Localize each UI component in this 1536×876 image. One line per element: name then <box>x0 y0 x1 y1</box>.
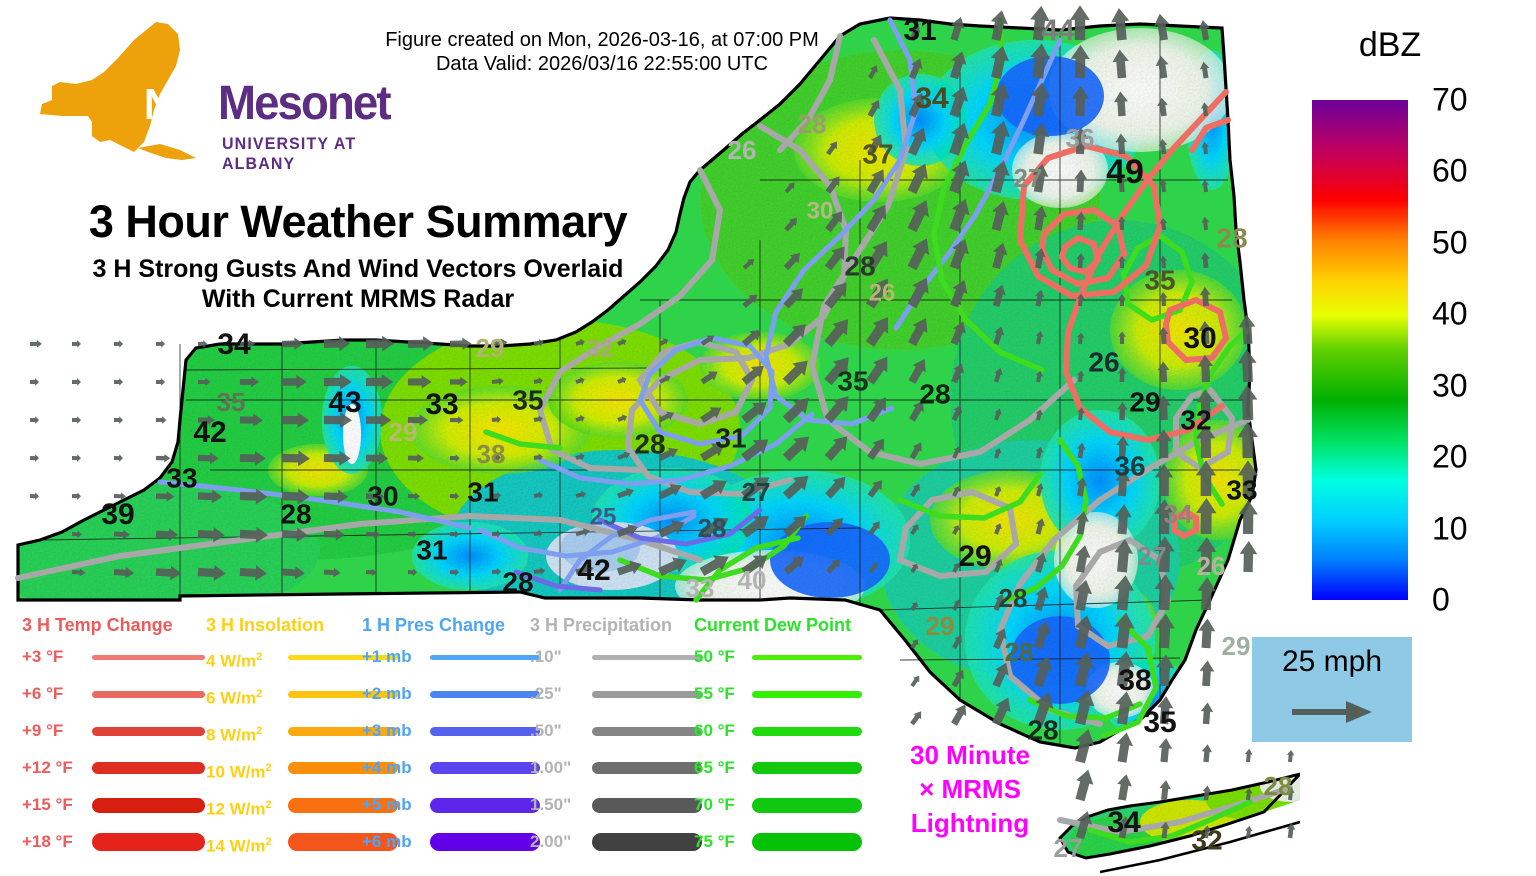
dbz-colorbar: dBZ 706050403020100 <box>1300 10 1536 620</box>
gust-value-label: 33 <box>166 462 197 493</box>
wind-vector-arrow-icon <box>1114 731 1135 763</box>
legend-row: +12 °F <box>22 756 205 789</box>
legend-column-4: Current Dew Point50 °F55 °F60 °F65 °F70 … <box>694 615 851 636</box>
legend-row-label: .10" <box>530 645 562 669</box>
wind-vector-arrow-icon <box>30 416 39 424</box>
legend-row: +2 mb <box>362 682 540 715</box>
legend-row-label: 6 W/m2 <box>206 682 262 711</box>
legend-row-swatch <box>752 762 862 774</box>
gust-value-label: 31 <box>903 14 936 47</box>
wind-vector-arrow-icon <box>1157 737 1173 762</box>
gust-value-label: 31 <box>467 476 498 507</box>
gust-value-label: 29 <box>476 333 505 363</box>
wind-vector-arrow-icon <box>114 378 123 386</box>
legend-row-label: 4 W/m2 <box>206 645 262 674</box>
legend-row: 1.00" <box>530 756 702 789</box>
wind-vector-arrow-icon <box>1286 750 1295 763</box>
legend-column-2: 1 H Pres Change+1 mb+2 mb+3 mb+4 mb+5 mb… <box>362 615 505 636</box>
colorbar-title: dBZ <box>1320 26 1460 65</box>
gust-value-label: 44 <box>1041 14 1075 47</box>
legend-row: 75 °F <box>694 830 862 863</box>
wind-vector-arrow-icon <box>156 340 165 348</box>
lightning-x-icon: × <box>919 774 934 804</box>
legend-row-label: 75 °F <box>694 830 735 854</box>
page-title: 3 Hour Weather Summary <box>18 196 698 248</box>
colorbar-tick-0: 0 <box>1432 582 1450 619</box>
legend-row-swatch <box>752 655 862 660</box>
gust-value-label: 35 <box>1144 264 1175 295</box>
legend-row-swatch <box>430 798 540 813</box>
legend-row-swatch <box>752 727 862 736</box>
gust-value-label: 28 <box>1005 637 1034 667</box>
colorbar-ticks: 706050403020100 <box>1418 100 1518 600</box>
wind-vector-arrow-icon <box>1244 748 1253 762</box>
legend-column-title: 3 H Insolation <box>206 615 324 636</box>
gust-value-label: 33 <box>686 573 715 603</box>
legend-row-swatch <box>92 762 205 774</box>
legend-row-swatch <box>430 691 540 698</box>
gust-value-label: 26 <box>1088 346 1119 377</box>
wind-vector-arrow-icon <box>1201 744 1213 763</box>
contour-legend: 3 H Temp Change+3 °F+6 °F+9 °F+12 °F+15 … <box>0 615 880 875</box>
wind-vector-arrow-icon <box>908 709 925 727</box>
lightning-legend-marker-row: × MRMS <box>880 772 1060 806</box>
legend-row: 2.00" <box>530 830 702 863</box>
legend-row-label: 8 W/m2 <box>206 719 262 748</box>
legend-row: +6 mb <box>362 830 540 863</box>
legend-row-swatch <box>752 691 862 698</box>
gust-value-label: 28 <box>502 566 533 597</box>
legend-row: .50" <box>530 719 702 752</box>
legend-row-label: 70 °F <box>694 793 735 817</box>
gust-value-label: 35 <box>217 387 246 417</box>
gust-value-label: 31 <box>416 534 447 565</box>
gust-value-label: 30 <box>1183 322 1216 355</box>
gust-value-label: 28 <box>280 498 311 529</box>
wind-vector-arrow-icon <box>72 340 81 348</box>
lightning-legend-line1: 30 Minute <box>880 738 1060 772</box>
legend-row-label: 50 °F <box>694 645 735 669</box>
wind-vector-arrow-icon <box>30 454 39 462</box>
gust-value-label: 27 <box>1138 541 1167 571</box>
gust-value-label: 33 <box>425 388 458 421</box>
colorbar-tick-40: 40 <box>1432 296 1468 333</box>
legend-row-label: +9 °F <box>22 719 63 743</box>
wind-vector-arrow-icon <box>72 454 81 462</box>
wind-vector-arrow-icon <box>30 378 39 386</box>
legend-row-swatch <box>592 655 702 660</box>
legend-column-title: 3 H Precipitation <box>530 615 672 636</box>
wind-reference-box: 25 mph <box>1252 637 1412 742</box>
gust-value-label: 28 <box>698 513 727 543</box>
legend-row: +4 mb <box>362 756 540 789</box>
gust-value-label: 28 <box>634 428 665 459</box>
legend-row: 55 °F <box>694 682 862 715</box>
legend-row-label: +1 mb <box>362 645 412 669</box>
gust-value-label: 32 <box>1180 404 1211 435</box>
gust-value-label: 38 <box>477 439 506 469</box>
legend-row-label: +12 °F <box>22 756 73 780</box>
legend-row-label: +3 °F <box>22 645 63 669</box>
legend-row-label: 60 °F <box>694 719 735 743</box>
logo-mesonet-text: Mesonet <box>218 76 390 131</box>
wind-vector-arrow-icon <box>156 454 171 463</box>
gust-value-label: 38 <box>1118 664 1151 697</box>
gust-value-label: 49 <box>1106 153 1144 191</box>
legend-row-swatch <box>752 833 862 851</box>
legend-row-label: 2.00" <box>530 830 571 854</box>
legend-row-label: 12 W/m2 <box>206 793 272 822</box>
legend-row: 50 °F <box>694 645 862 678</box>
legend-row-label: 65 °F <box>694 756 735 780</box>
legend-row-swatch <box>92 691 205 698</box>
subtitle-line-1: 3 H Strong Gusts And Wind Vectors Overla… <box>18 255 698 284</box>
gust-value-label: 37 <box>862 138 893 169</box>
gust-value-label: 26 <box>1197 551 1226 581</box>
logo-nys-text: NYS <box>144 80 224 130</box>
legend-row: 1.50" <box>530 793 702 826</box>
legend-row-swatch <box>752 798 862 813</box>
wind-vector-arrow-icon <box>30 492 39 500</box>
legend-row-label: +6 mb <box>362 830 412 854</box>
legend-row-label: +5 mb <box>362 793 412 817</box>
legend-row: +18 °F <box>22 830 205 863</box>
gust-value-label: 35 <box>1143 706 1176 739</box>
wind-vector-arrow-icon <box>30 340 42 348</box>
gust-value-label: 28 <box>1216 222 1247 253</box>
gust-value-label: 29 <box>389 417 418 447</box>
wind-vector-arrow-icon <box>1158 780 1171 801</box>
legend-row: +6 °F <box>22 682 205 715</box>
gust-value-label: 34 <box>217 328 251 361</box>
wind-vector-arrow-icon <box>1239 541 1257 572</box>
legend-row: +5 mb <box>362 793 540 826</box>
wind-vector-arrow-icon <box>72 378 81 386</box>
legend-row-label: +2 mb <box>362 682 412 706</box>
gust-value-label: 42 <box>193 416 226 449</box>
lightning-legend: 30 Minute × MRMS Lightning <box>880 738 1060 840</box>
lightning-legend-line3: Lightning <box>880 806 1060 840</box>
wind-vector-arrow-icon <box>1200 702 1214 724</box>
gust-value-label: 32 <box>587 335 614 362</box>
legend-row-swatch <box>92 727 205 736</box>
gust-value-label: 27 <box>742 477 771 507</box>
legend-row-label: +15 °F <box>22 793 73 817</box>
legend-row-label: +4 mb <box>362 756 412 780</box>
legend-row-label: .50" <box>530 719 562 743</box>
legend-row-swatch <box>92 655 205 660</box>
wind-reference-arrow-icon <box>1290 699 1374 725</box>
legend-row: .25" <box>530 682 702 715</box>
gust-value-label: 29 <box>958 540 991 573</box>
wind-vector-arrow-icon <box>114 454 123 462</box>
gust-value-label: 28 <box>999 583 1028 613</box>
gust-value-label: 36 <box>1066 123 1095 153</box>
gust-value-label: 32 <box>1191 824 1222 855</box>
wind-vector-arrow-icon <box>156 378 165 386</box>
wind-vector-arrow-icon <box>72 492 81 500</box>
wind-vector-arrow-icon <box>114 340 123 348</box>
gust-value-label: 26 <box>869 279 896 306</box>
wind-vector-arrow-icon <box>1115 773 1134 801</box>
gust-value-label: 42 <box>577 554 610 587</box>
legend-row-swatch <box>592 798 702 813</box>
colorbar-tick-10: 10 <box>1432 510 1468 547</box>
gust-value-label: 35 <box>837 365 868 396</box>
gust-value-label: 33 <box>1226 474 1257 505</box>
wind-vector-arrow-icon <box>909 674 922 689</box>
gust-value-label: 26 <box>728 135 757 165</box>
gust-value-label: 30 <box>807 197 834 224</box>
legend-row-swatch <box>92 798 205 813</box>
legend-row-swatch <box>592 727 702 736</box>
legend-row-label: 55 °F <box>694 682 735 706</box>
gust-value-label: 29 <box>926 611 955 641</box>
gust-value-label: 27 <box>1014 163 1043 193</box>
legend-row-swatch <box>592 833 702 851</box>
legend-column-title: 3 H Temp Change <box>22 615 173 636</box>
gust-value-label: 28 <box>919 378 950 409</box>
data-valid-timestamp: Data Valid: 2026/03/16 22:55:00 UTC <box>352 52 852 76</box>
legend-row: 70 °F <box>694 793 862 826</box>
legend-row-swatch <box>430 762 540 774</box>
colorbar-tick-30: 30 <box>1432 367 1468 404</box>
legend-row-label: 14 W/m2 <box>206 830 272 859</box>
colorbar-tick-20: 20 <box>1432 439 1468 476</box>
legend-column-1: 3 H Insolation4 W/m26 W/m28 W/m210 W/m21… <box>206 615 324 636</box>
gust-value-label: 28 <box>844 250 875 281</box>
gust-value-label: 28 <box>1264 771 1293 801</box>
wind-vector-arrow-icon <box>72 416 81 424</box>
gust-value-label: 29 <box>1129 386 1160 417</box>
wind-reference-label: 25 mph <box>1252 645 1412 679</box>
colorbar-gradient <box>1312 100 1408 600</box>
gust-value-label: 34 <box>915 82 949 115</box>
gust-value-label: 39 <box>101 498 134 531</box>
lightning-legend-line2: MRMS <box>941 774 1020 804</box>
legend-row: .10" <box>530 645 702 678</box>
gust-value-label: 40 <box>738 565 767 595</box>
legend-row-label: 1.00" <box>530 756 571 780</box>
gust-value-label: 28 <box>798 109 827 139</box>
legend-row-swatch <box>592 762 702 774</box>
colorbar-tick-70: 70 <box>1432 82 1468 119</box>
gust-value-label: 31 <box>715 422 746 453</box>
gust-value-label: 43 <box>328 386 361 419</box>
gust-value-label: 29 <box>1222 631 1251 661</box>
colorbar-tick-60: 60 <box>1432 153 1468 190</box>
colorbar-tick-50: 50 <box>1432 224 1468 261</box>
logo-university-text: UNIVERSITY AT ALBANY <box>222 134 371 174</box>
nys-mesonet-logo: NYS Mesonet UNIVERSITY AT ALBANY <box>30 18 380 163</box>
legend-row: +15 °F <box>22 793 205 826</box>
legend-row-label: +6 °F <box>22 682 63 706</box>
wind-vector-arrow-icon <box>1071 767 1096 802</box>
legend-row-label: 10 W/m2 <box>206 756 272 785</box>
legend-row-label: +3 mb <box>362 719 412 743</box>
wind-vector-arrow-icon <box>156 416 167 424</box>
gust-value-label: 36 <box>1114 450 1145 481</box>
legend-row-label: +18 °F <box>22 830 73 854</box>
legend-row-swatch <box>430 655 540 660</box>
gust-value-label: 34 <box>1107 806 1141 839</box>
gust-value-label: 25 <box>590 503 617 530</box>
legend-row-swatch <box>592 691 702 698</box>
legend-column-title: 1 H Pres Change <box>362 615 505 636</box>
legend-row: 60 °F <box>694 719 862 752</box>
legend-row-label: 1.50" <box>530 793 571 817</box>
figure-created-timestamp: Figure created on Mon, 2026-03-16, at 07… <box>352 28 852 52</box>
gust-value-label: 34 <box>1164 499 1193 529</box>
legend-row: +3 °F <box>22 645 205 678</box>
legend-row: +3 mb <box>362 719 540 752</box>
legend-row: +1 mb <box>362 645 540 678</box>
legend-column-3: 3 H Precipitation.10".25".50"1.00"1.50"2… <box>530 615 672 636</box>
wind-vector-arrow-icon <box>1199 660 1215 687</box>
subtitle-line-2: With Current MRMS Radar <box>18 285 698 314</box>
gust-value-label: 35 <box>512 384 543 415</box>
legend-row: +9 °F <box>22 719 205 752</box>
legend-column-title: Current Dew Point <box>694 615 851 636</box>
legend-row-swatch <box>92 833 205 851</box>
legend-row-label: .25" <box>530 682 562 706</box>
legend-row: 65 °F <box>694 756 862 789</box>
wind-vector-arrow-icon <box>114 416 123 424</box>
gust-value-label: 30 <box>367 480 398 511</box>
legend-row-swatch <box>430 727 540 736</box>
legend-column-0: 3 H Temp Change+3 °F+6 °F+9 °F+12 °F+15 … <box>22 615 173 636</box>
legend-row-swatch <box>430 833 540 851</box>
